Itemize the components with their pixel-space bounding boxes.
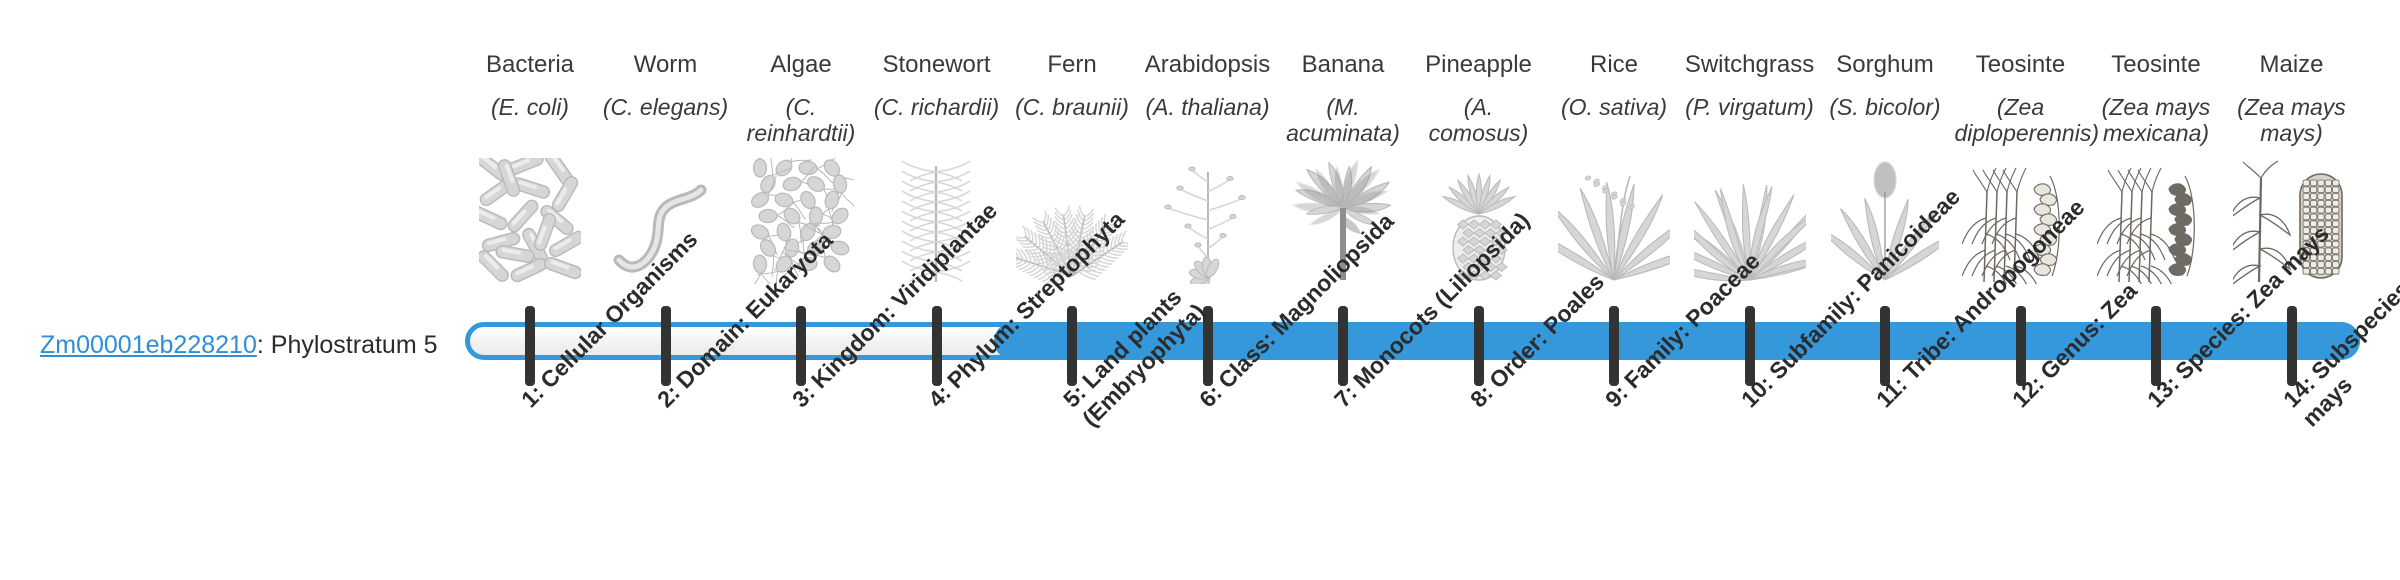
tick-mark-2 [661, 306, 671, 386]
phylostratum-number: 13: [2142, 370, 2184, 412]
species-common-name: Rice [1546, 52, 1682, 79]
species-column-algae: Algae(C. reinhardtii) [733, 52, 869, 146]
phylostratum-number: 2: [652, 380, 685, 413]
species-latin-name: (E. coli) [462, 95, 598, 121]
species-common-name: Pineapple [1411, 52, 1547, 79]
tick-mark-11 [1880, 306, 1890, 386]
phylostratum-number: 10: [1736, 370, 1778, 412]
tick-mark-7 [1338, 306, 1348, 386]
tick-mark-14 [2287, 306, 2297, 386]
species-common-name: Algae [733, 52, 869, 79]
bacteria-illustration [462, 168, 598, 284]
species-common-name: Banana [1275, 52, 1411, 79]
tick-mark-13 [2151, 306, 2161, 386]
species-common-name: Arabidopsis [1140, 52, 1276, 79]
species-column-stonewort: Stonewort(C. richardii) [869, 52, 1005, 121]
species-column-maize: Maize(Zea mays mays) [2224, 52, 2360, 146]
species-latin-name: (A. thaliana) [1140, 95, 1276, 121]
tick-mark-1 [525, 306, 535, 386]
species-column-teosinte: Teosinte(Zea diploperennis) [1953, 52, 2089, 146]
species-column-pineapple: Pineapple(A. comosus) [1411, 52, 1547, 146]
species-latin-name: (Zea diploperennis) [1953, 95, 2089, 147]
species-column-switchgrass: Switchgrass(P. virgatum) [1682, 52, 1818, 121]
species-common-name: Switchgrass [1682, 52, 1818, 79]
species-latin-name: (Zea mays mays) [2224, 95, 2360, 147]
phylostratum-number: 8: [1465, 380, 1498, 413]
species-column-banana: Banana(M. acuminata) [1275, 52, 1411, 146]
species-latin-name: (S. bicolor) [1817, 95, 1953, 121]
species-common-name: Teosinte [2088, 52, 2224, 79]
phylostratum-number: 4: [923, 380, 956, 413]
species-common-name: Bacteria [462, 52, 598, 79]
species-latin-name: (P. virgatum) [1682, 95, 1818, 121]
phylostratum-number: 11: [1871, 371, 1912, 412]
species-column-sorghum: Sorghum(S. bicolor) [1817, 52, 1953, 121]
phylostratum-number: 6: [1194, 380, 1227, 413]
tick-mark-8 [1474, 306, 1484, 386]
phylostratigraphy-timeline-widget: Zm00001eb228210: Phylostratum 5 Bacteria… [0, 0, 2400, 580]
tick-mark-4 [932, 306, 942, 386]
species-column-teosinte: Teosinte(Zea mays mexicana) [2088, 52, 2224, 146]
species-column-arabidopsis: Arabidopsis(A. thaliana) [1140, 52, 1276, 121]
species-common-name: Sorghum [1817, 52, 1953, 79]
species-latin-name: (A. comosus) [1411, 95, 1547, 147]
species-column-fern: Fern(C. braunii) [1004, 52, 1140, 121]
species-latin-name: (M. acuminata) [1275, 95, 1411, 147]
tick-mark-12 [2016, 306, 2026, 386]
species-latin-name: (O. sativa) [1546, 95, 1682, 121]
species-latin-name: (C. elegans) [598, 95, 734, 121]
species-common-name: Worm [598, 52, 734, 79]
species-latin-name: (C. richardii) [869, 95, 1005, 121]
phylostratum-number: 12: [2007, 370, 2049, 412]
species-common-name: Maize [2224, 52, 2360, 79]
tick-mark-9 [1609, 306, 1619, 386]
tick-mark-5 [1067, 306, 1077, 386]
species-latin-name: (Zea mays mexicana) [2088, 95, 2224, 147]
species-common-name: Stonewort [869, 52, 1005, 79]
species-column-rice: Rice(O. sativa) [1546, 52, 1682, 121]
species-latin-name: (C. braunii) [1004, 95, 1140, 121]
species-common-name: Teosinte [1953, 52, 2089, 79]
tick-mark-10 [1745, 306, 1755, 386]
species-column-worm: Worm(C. elegans) [598, 52, 734, 121]
species-column-bacteria: Bacteria(E. coli) [462, 52, 598, 121]
species-latin-name: (C. reinhardtii) [733, 95, 869, 147]
species-common-name: Fern [1004, 52, 1140, 79]
tick-mark-3 [796, 306, 806, 386]
